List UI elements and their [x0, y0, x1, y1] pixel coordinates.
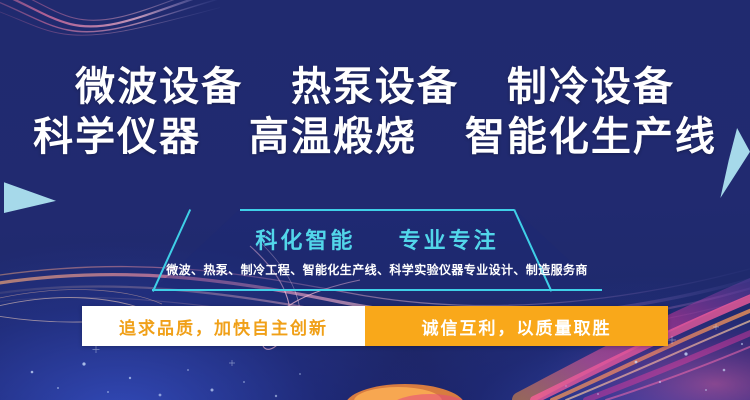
slogan-left: 追求品质，加快自主创新 [82, 306, 365, 346]
headline-word-4: 科学仪器 [33, 112, 201, 162]
callout-trapezoid: 科化智能 专业专注 微波、热泵、制冷工程、智能化生产线、科学实验仪器专业设计、制… [152, 209, 602, 291]
callout-title-right: 专业专注 [399, 229, 499, 254]
headline-word-1: 微波设备 [75, 62, 243, 112]
callout-title-left: 科化智能 [255, 229, 355, 254]
headline-line-1: 微波设备 热泵设备 制冷设备 [0, 62, 750, 112]
promo-banner: 微波设备 热泵设备 制冷设备 科学仪器 高温煅烧 智能化生产线 科化智能 专业专… [0, 0, 750, 400]
slogan-right-text: 诚信互利，以质量取胜 [422, 314, 612, 339]
headline-word-3: 制冷设备 [507, 62, 675, 112]
callout-border-bottom [152, 289, 602, 291]
headline-line-2: 科学仪器 高温煅烧 智能化生产线 [0, 112, 750, 162]
headline: 微波设备 热泵设备 制冷设备 科学仪器 高温煅烧 智能化生产线 [0, 62, 750, 162]
headline-word-2: 热泵设备 [291, 62, 459, 112]
headline-word-6: 智能化生产线 [465, 112, 717, 162]
callout-subtitle: 微波、热泵、制冷工程、智能化生产线、科学实验仪器专业设计、制造服务商 [152, 261, 602, 278]
triangle-right-icon [4, 181, 56, 213]
slogan-left-text: 追求品质，加快自主创新 [119, 314, 328, 339]
callout-border-top [240, 209, 515, 211]
callout-title: 科化智能 专业专注 [152, 223, 602, 255]
slogan-strip: 追求品质，加快自主创新 诚信互利，以质量取胜 [82, 306, 668, 346]
slogan-right: 诚信互利，以质量取胜 [365, 306, 668, 346]
headline-word-5: 高温煅烧 [249, 112, 417, 162]
